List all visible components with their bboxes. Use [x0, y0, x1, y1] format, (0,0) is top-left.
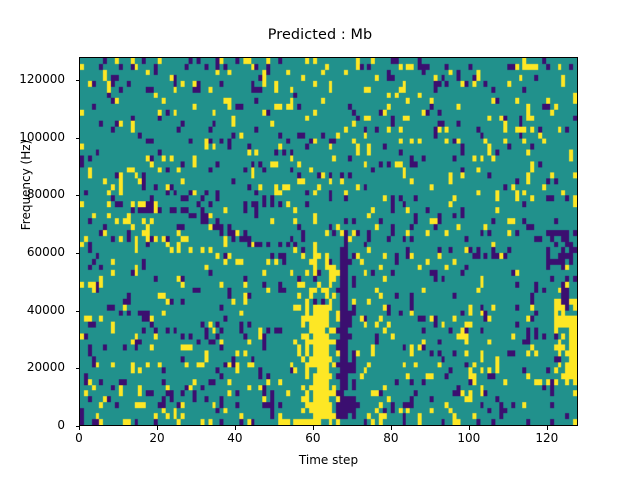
- x-tick-label: 40: [205, 431, 265, 445]
- y-tick-label: 100000: [0, 130, 70, 144]
- y-tick-label: 60000: [0, 245, 70, 259]
- page-title: Predicted : Mb: [0, 27, 640, 43]
- x-tick-mark: [235, 426, 236, 430]
- x-tick-label: 120: [517, 431, 577, 445]
- y-tick-mark: [76, 253, 80, 254]
- spectrogram-heatmap: [80, 58, 577, 425]
- y-tick-mark: [76, 368, 80, 369]
- y-tick-mark: [76, 311, 80, 312]
- x-tick-mark: [79, 426, 80, 430]
- y-tick-label: 120000: [0, 72, 70, 86]
- y-tick-label: 80000: [0, 187, 70, 201]
- y-tick-mark: [76, 195, 80, 196]
- x-tick-label: 80: [361, 431, 421, 445]
- x-tick-mark: [313, 426, 314, 430]
- heatmap-axes: [79, 57, 578, 426]
- x-tick-mark: [391, 426, 392, 430]
- y-tick-mark: [76, 80, 80, 81]
- y-tick-mark: [76, 426, 80, 427]
- y-tick-label: 0: [0, 418, 70, 432]
- x-tick-label: 20: [127, 431, 187, 445]
- y-tick-mark: [76, 138, 80, 139]
- x-tick-label: 60: [283, 431, 343, 445]
- matplotlib-figure: Predicted : Mb 020406080100120 020000400…: [0, 0, 640, 480]
- x-tick-label: 100: [439, 431, 499, 445]
- x-axis-label: Time step: [79, 453, 578, 467]
- y-tick-label: 40000: [0, 303, 70, 317]
- x-tick-mark: [469, 426, 470, 430]
- x-tick-label: 0: [49, 431, 109, 445]
- y-axis-label: Frequency (Hz): [19, 85, 33, 285]
- x-tick-mark: [547, 426, 548, 430]
- x-tick-mark: [157, 426, 158, 430]
- y-tick-label: 20000: [0, 360, 70, 374]
